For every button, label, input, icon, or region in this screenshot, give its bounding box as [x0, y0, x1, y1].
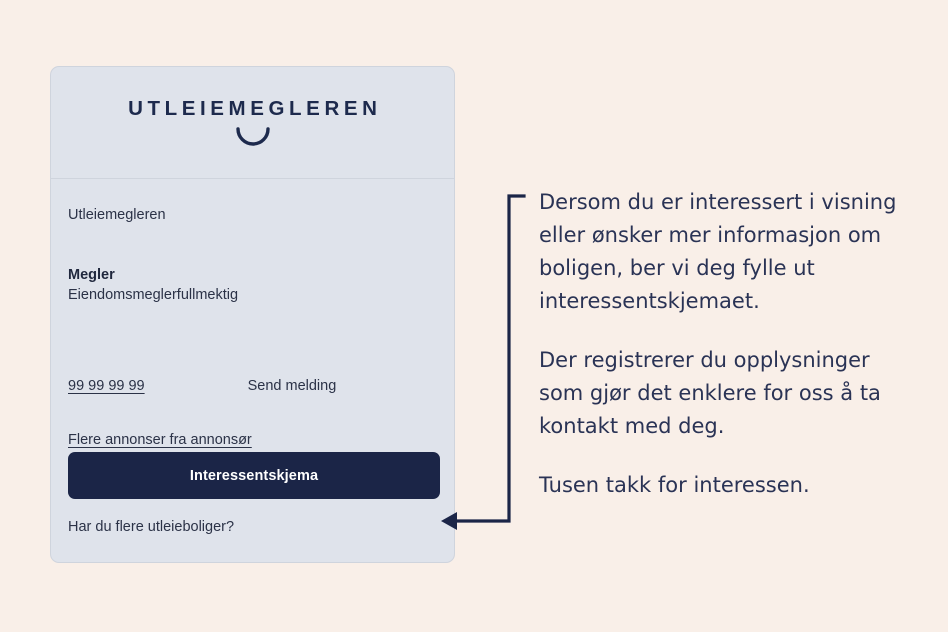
more-rental-properties-link[interactable]: Har du flere utleieboliger?	[68, 519, 437, 535]
advertiser-card: UTLEIEMEGLEREN Utleiemegleren Megler Eie…	[50, 66, 455, 563]
annotation-paragraph-2: Der registrerer du opplysninger som gjør…	[539, 344, 914, 443]
annotation-text-block: Dersom du er interessert i visning eller…	[539, 186, 914, 502]
more-ads-from-advertiser-link[interactable]: Flere annonser fra annonsør	[68, 432, 252, 448]
broker-contact-row: 99 99 99 99 Send melding	[68, 378, 437, 394]
annotation-paragraph-1: Dersom du er interessert i visning eller…	[539, 186, 914, 318]
screenshot-canvas: UTLEIEMEGLEREN Utleiemegleren Megler Eie…	[0, 0, 948, 632]
broker-job-title: Eiendomsmeglerfullmektig	[68, 287, 437, 303]
broker-info: Megler Eiendomsmeglerfullmektig	[68, 267, 437, 303]
card-body: Utleiemegleren Megler Eiendomsmeglerfull…	[51, 179, 454, 562]
broker-role-label: Megler	[68, 267, 437, 283]
broker-phone-link[interactable]: 99 99 99 99	[68, 378, 145, 394]
annotation-paragraph-3: Tusen takk for interessen.	[539, 469, 914, 502]
card-header: UTLEIEMEGLEREN	[51, 67, 454, 179]
utleiemegleren-logo-text: UTLEIEMEGLEREN	[51, 97, 454, 121]
agency-name: Utleiemegleren	[68, 207, 166, 223]
smile-arc-icon	[235, 127, 271, 149]
interessentskjema-button[interactable]: Interessentskjema	[68, 452, 440, 499]
send-message-link[interactable]: Send melding	[248, 378, 337, 394]
